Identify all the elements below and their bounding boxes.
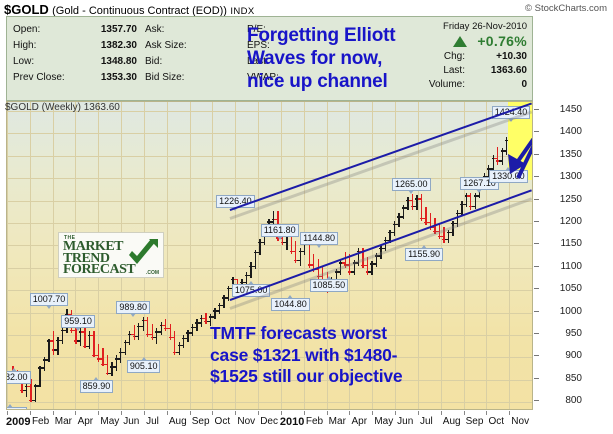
bar-open-tick bbox=[108, 373, 111, 374]
bar-open-tick bbox=[81, 331, 84, 332]
gridline-horizontal bbox=[7, 313, 532, 314]
time-axis-label: Mar bbox=[329, 416, 346, 427]
price-callout-label: 882.00 bbox=[6, 371, 31, 384]
ohlc-bar bbox=[465, 193, 466, 207]
bar-open-tick bbox=[198, 322, 201, 323]
quote-label: Low: bbox=[13, 56, 75, 67]
bar-range bbox=[196, 319, 197, 330]
annotation-line: Forgetting Elliott bbox=[247, 24, 527, 47]
bar-open-tick bbox=[54, 349, 57, 350]
ohlc-bar bbox=[213, 308, 214, 319]
ohlc-bar bbox=[146, 317, 147, 337]
ohlc-bar bbox=[218, 303, 219, 314]
breakout-arrows bbox=[472, 102, 533, 212]
bar-open-tick bbox=[207, 321, 210, 322]
price-axis-tick: 1150 bbox=[534, 238, 613, 250]
bar-range bbox=[93, 331, 94, 357]
bar-open-tick bbox=[382, 248, 385, 249]
bar-open-tick bbox=[144, 320, 147, 321]
bar-open-tick bbox=[180, 345, 183, 346]
time-axis-label: Feb bbox=[32, 416, 49, 427]
axis-tick-mark bbox=[534, 176, 539, 177]
quote-value: 1353.30 bbox=[75, 72, 145, 83]
axis-tick-mark bbox=[534, 378, 539, 379]
bar-open-tick bbox=[368, 271, 371, 272]
annotation-line: $1525 still our objective bbox=[210, 366, 530, 388]
bar-open-tick bbox=[337, 271, 340, 272]
gridline-vertical bbox=[190, 102, 191, 409]
bar-open-tick bbox=[427, 222, 430, 223]
ohlc-bar bbox=[164, 319, 165, 330]
bar-range bbox=[48, 339, 49, 362]
time-axis-label: Apr bbox=[352, 416, 368, 427]
axis-tick-mark bbox=[534, 109, 539, 110]
axis-tick-label: 1300 bbox=[542, 171, 582, 182]
bar-open-tick bbox=[126, 342, 129, 343]
bar-open-tick bbox=[135, 336, 138, 337]
time-axis-label: Feb bbox=[306, 416, 323, 427]
time-axis-tick-mark bbox=[281, 411, 282, 415]
price-axis-tick: 1350 bbox=[534, 149, 613, 161]
bar-range bbox=[192, 324, 193, 336]
bar-open-tick bbox=[310, 264, 313, 265]
bar-open-tick bbox=[95, 355, 98, 356]
bar-open-tick bbox=[395, 224, 398, 225]
axis-tick-label: 950 bbox=[542, 328, 582, 339]
ohlc-bar bbox=[397, 213, 398, 227]
time-axis-label: Jul bbox=[146, 416, 159, 427]
time-axis-label: Aug bbox=[443, 416, 461, 427]
bar-open-tick bbox=[211, 316, 214, 317]
bar-open-tick bbox=[41, 367, 44, 368]
logo-line3: FORECAST bbox=[63, 262, 135, 278]
axis-tick-label: 1450 bbox=[542, 104, 582, 115]
ohlc-bar bbox=[83, 328, 84, 349]
ohlc-bar bbox=[119, 348, 120, 362]
time-axis-tick-mark bbox=[327, 411, 328, 415]
time-axis-label: Jun bbox=[397, 416, 413, 427]
ohlc-bar bbox=[249, 262, 250, 277]
ohlc-bar bbox=[411, 194, 412, 210]
ohlc-bar bbox=[115, 355, 116, 371]
ohlc-bar bbox=[88, 331, 89, 349]
bar-open-tick bbox=[153, 337, 156, 338]
bar-open-tick bbox=[467, 195, 470, 196]
price-axis-tick: 900 bbox=[534, 350, 613, 362]
axis-tick-mark bbox=[534, 266, 539, 267]
axis-tick-mark bbox=[534, 221, 539, 222]
axis-tick-mark bbox=[534, 333, 539, 334]
axis-tick-mark bbox=[534, 131, 539, 132]
ohlc-bar bbox=[128, 331, 129, 345]
symbol-label: $GOLD bbox=[4, 2, 49, 17]
bar-open-tick bbox=[32, 400, 35, 401]
ohlc-bar bbox=[406, 197, 407, 210]
bar-open-tick bbox=[167, 328, 170, 329]
quote-value: 1382.30 bbox=[75, 40, 145, 51]
price-axis-tick: 1450 bbox=[534, 104, 613, 116]
price-axis-tick: 950 bbox=[534, 328, 613, 340]
market-trend-forecast-logo: THE MARKET TREND FORECAST .COM bbox=[58, 232, 164, 278]
time-axis-label: Mar bbox=[55, 416, 72, 427]
bar-open-tick bbox=[225, 297, 228, 298]
time-axis-label: Sep bbox=[466, 416, 484, 427]
bar-open-tick bbox=[449, 232, 452, 233]
bar-open-tick bbox=[463, 204, 466, 205]
quote-value: 1357.70 bbox=[75, 24, 145, 35]
axis-tick-mark bbox=[534, 243, 539, 244]
bar-open-tick bbox=[122, 352, 125, 353]
gridline-vertical bbox=[167, 102, 168, 409]
price-axis-tick: 1200 bbox=[534, 216, 613, 228]
bar-open-tick bbox=[422, 218, 425, 219]
bar-range bbox=[89, 331, 90, 349]
ohlc-bar bbox=[34, 384, 35, 401]
bar-open-tick bbox=[27, 386, 30, 387]
ohlc-bar bbox=[415, 195, 416, 210]
axis-tick-label: 850 bbox=[542, 373, 582, 384]
ohlc-bar bbox=[47, 339, 48, 362]
chart-title: $GOLD (Gold - Continuous Contract (EOD))… bbox=[4, 2, 255, 17]
price-callout-label: 859.90 bbox=[80, 380, 114, 393]
bar-open-tick bbox=[391, 232, 394, 233]
bar-range bbox=[111, 362, 112, 376]
time-axis-tick-mark bbox=[509, 411, 510, 415]
time-axis-tick-mark bbox=[304, 411, 305, 415]
time-axis-tick-mark bbox=[144, 411, 145, 415]
quote-label-2: Ask: bbox=[145, 24, 207, 35]
ohlc-bar bbox=[402, 205, 403, 219]
bar-open-tick bbox=[36, 385, 39, 386]
bar-open-tick bbox=[113, 366, 116, 367]
time-axis-label: 2010 bbox=[280, 416, 304, 428]
axis-tick-label: 900 bbox=[542, 350, 582, 361]
gridline-vertical bbox=[7, 102, 8, 409]
bar-open-tick bbox=[202, 318, 205, 319]
axis-tick-mark bbox=[534, 311, 539, 312]
bar-open-tick bbox=[171, 337, 174, 338]
chart-subtitle: $GOLD (Weekly) 1363.60 bbox=[5, 102, 120, 113]
time-axis-tick-mark bbox=[464, 411, 465, 415]
bar-open-tick bbox=[117, 358, 120, 359]
bar-range bbox=[129, 331, 130, 345]
axis-tick-mark bbox=[534, 154, 539, 155]
time-axis-tick-mark bbox=[98, 411, 99, 415]
bar-range bbox=[26, 382, 27, 397]
time-axis-tick-mark bbox=[235, 411, 236, 415]
channel-lower-shadow bbox=[230, 198, 533, 311]
bar-open-tick bbox=[283, 242, 286, 243]
price-callout-label: 1085.50 bbox=[310, 279, 349, 292]
ohlc-bar bbox=[38, 366, 39, 387]
ohlc-bar bbox=[195, 319, 196, 330]
bar-range bbox=[134, 325, 135, 339]
ohlc-bar bbox=[43, 357, 44, 370]
bar-open-tick bbox=[301, 251, 304, 252]
bar-open-tick bbox=[256, 252, 259, 253]
ohlc-bar bbox=[155, 328, 156, 344]
price-callout-label: 1161.80 bbox=[261, 224, 299, 237]
time-axis-tick-mark bbox=[53, 411, 54, 415]
ohlc-bar bbox=[258, 239, 259, 256]
time-axis: 2009FebMarAprMayJunJulAugSepOctNovDec201… bbox=[0, 411, 613, 434]
bar-open-tick bbox=[247, 275, 250, 276]
annotation-line: nice up channel bbox=[247, 70, 527, 93]
bar-open-tick bbox=[351, 271, 354, 272]
bar-open-tick bbox=[63, 330, 66, 331]
bar-open-tick bbox=[261, 242, 264, 243]
bar-open-tick bbox=[373, 263, 376, 264]
axis-tick-label: 1200 bbox=[542, 216, 582, 227]
quote-label-2: Ask Size: bbox=[145, 40, 207, 51]
ohlc-bar bbox=[393, 221, 394, 236]
bar-open-tick bbox=[162, 325, 165, 326]
price-callout-label: 1265.00 bbox=[392, 178, 431, 191]
quote-label: High: bbox=[13, 40, 75, 51]
price-callout-label: 801.50 bbox=[6, 407, 27, 410]
gridline-vertical bbox=[30, 102, 31, 409]
gridline-horizontal bbox=[7, 133, 532, 134]
price-axis-tick: 1000 bbox=[534, 306, 613, 318]
bar-open-tick bbox=[184, 338, 187, 339]
quote-label: Prev Close: bbox=[13, 72, 75, 83]
bar-open-tick bbox=[274, 219, 277, 220]
gridline-horizontal bbox=[7, 402, 532, 403]
bar-open-tick bbox=[59, 340, 62, 341]
ohlc-bar bbox=[200, 315, 201, 327]
bar-open-tick bbox=[90, 335, 93, 336]
bar-open-tick bbox=[149, 334, 152, 335]
axis-tick-label: 1100 bbox=[542, 261, 582, 272]
ohlc-bar bbox=[92, 331, 93, 357]
time-axis-tick-mark bbox=[7, 411, 8, 415]
bar-range bbox=[201, 315, 202, 327]
bar-open-tick bbox=[409, 200, 412, 201]
time-axis-label: Nov bbox=[237, 416, 255, 427]
bar-open-tick bbox=[50, 340, 53, 341]
annotation-line: case $1321 with $1480- bbox=[210, 345, 530, 367]
bar-range bbox=[179, 342, 180, 355]
quote-value: 1348.80 bbox=[75, 56, 145, 67]
time-axis-label: May bbox=[100, 416, 119, 427]
ohlc-bar bbox=[420, 194, 421, 221]
time-axis-label: Apr bbox=[78, 416, 94, 427]
bar-open-tick bbox=[400, 216, 403, 217]
bar-open-tick bbox=[220, 305, 223, 306]
time-axis-label: Nov bbox=[511, 416, 529, 427]
ohlc-bar bbox=[25, 382, 26, 397]
ohlc-bar bbox=[106, 355, 107, 375]
time-axis-label: May bbox=[374, 416, 393, 427]
price-axis-tick: 1100 bbox=[534, 261, 613, 273]
axis-tick-mark bbox=[534, 199, 539, 200]
ohlc-bar bbox=[182, 335, 183, 348]
ohlc-bar bbox=[204, 313, 205, 324]
axis-tick-mark bbox=[534, 355, 539, 356]
time-axis-tick-mark bbox=[121, 411, 122, 415]
ohlc-bar bbox=[469, 193, 470, 210]
price-axis-tick: 850 bbox=[534, 373, 613, 385]
time-axis-label: 2009 bbox=[6, 416, 30, 428]
bar-open-tick bbox=[270, 221, 273, 222]
checkmark-arrow-icon bbox=[127, 237, 161, 267]
price-callout-label: 959.10 bbox=[61, 315, 95, 328]
time-axis-tick-mark bbox=[190, 411, 191, 415]
axis-tick-mark bbox=[534, 400, 539, 401]
bar-open-tick bbox=[404, 207, 407, 208]
axis-tick-label: 1150 bbox=[542, 238, 582, 249]
axis-tick-mark bbox=[534, 288, 539, 289]
bar-range bbox=[30, 379, 31, 402]
logo-com: .COM bbox=[146, 270, 159, 276]
bar-range bbox=[35, 384, 36, 401]
time-axis-label: Oct bbox=[488, 416, 504, 427]
ohlc-bar bbox=[191, 324, 192, 336]
price-callout-label: 1144.80 bbox=[300, 232, 338, 245]
bar-open-tick bbox=[418, 198, 421, 199]
ohlc-bar bbox=[424, 207, 425, 225]
bar-open-tick bbox=[86, 346, 89, 347]
ohlc-bar bbox=[160, 322, 161, 335]
quote-label-2: Bid: bbox=[145, 56, 207, 67]
bar-open-tick bbox=[99, 358, 102, 359]
bar-range bbox=[53, 331, 54, 356]
quote-label-2: Bid Size: bbox=[145, 72, 207, 83]
time-axis-tick-mark bbox=[167, 411, 168, 415]
bar-open-tick bbox=[189, 332, 192, 333]
time-axis-label: Dec bbox=[260, 416, 278, 427]
price-callout-label: 1044.80 bbox=[271, 298, 310, 311]
time-axis-tick-mark bbox=[75, 411, 76, 415]
bar-open-tick bbox=[193, 327, 196, 328]
gridline-vertical bbox=[53, 102, 54, 409]
bar-range bbox=[205, 313, 206, 324]
time-axis-tick-mark bbox=[441, 411, 442, 415]
annotation-line: TMTF forecasts worst bbox=[210, 323, 530, 345]
axis-tick-label: 1050 bbox=[542, 283, 582, 294]
time-axis-tick-mark bbox=[486, 411, 487, 415]
bar-open-tick bbox=[364, 265, 367, 266]
bar-open-tick bbox=[297, 260, 300, 261]
bar-range bbox=[120, 348, 121, 362]
bar-range bbox=[39, 366, 40, 387]
axis-tick-label: 1000 bbox=[542, 306, 582, 317]
axis-tick-label: 1350 bbox=[542, 149, 582, 160]
price-callout-label: 989.80 bbox=[116, 301, 150, 314]
time-axis-label: Sep bbox=[192, 416, 210, 427]
ohlc-bar bbox=[299, 248, 300, 266]
bar-open-tick bbox=[104, 364, 107, 365]
ohlc-bar bbox=[370, 261, 371, 274]
axis-tick-label: 800 bbox=[542, 395, 582, 406]
ohlc-bar bbox=[227, 286, 228, 302]
bar-open-tick bbox=[23, 390, 26, 391]
price-callout-label: 1155.90 bbox=[405, 248, 443, 261]
time-axis-label: Oct bbox=[215, 416, 231, 427]
ohlc-bar bbox=[110, 362, 111, 376]
bar-range bbox=[161, 322, 162, 335]
price-axis-tick: 1400 bbox=[534, 126, 613, 138]
bar-open-tick bbox=[176, 352, 179, 353]
time-axis-tick-mark bbox=[395, 411, 396, 415]
bar-open-tick bbox=[252, 266, 255, 267]
bar-open-tick bbox=[445, 239, 448, 240]
annotation-top: Forgetting ElliottWaves for now,nice up … bbox=[247, 24, 527, 93]
ohlc-bar bbox=[169, 324, 170, 340]
axis-tick-label: 1250 bbox=[542, 194, 582, 205]
axis-tick-label: 1400 bbox=[542, 126, 582, 137]
bar-open-tick bbox=[234, 279, 237, 280]
time-axis-label: Jul bbox=[420, 416, 433, 427]
bar-open-tick bbox=[140, 326, 143, 327]
bar-open-tick bbox=[292, 251, 295, 252]
ohlc-bar bbox=[124, 340, 125, 356]
ohlc-bar bbox=[137, 323, 138, 340]
ohlc-bar bbox=[178, 342, 179, 355]
time-axis-tick-mark bbox=[349, 411, 350, 415]
bar-open-tick bbox=[158, 331, 161, 332]
gridline-horizontal bbox=[7, 201, 532, 202]
time-axis-tick-mark bbox=[372, 411, 373, 415]
gridline-horizontal bbox=[7, 178, 532, 179]
ohlc-bar bbox=[151, 324, 152, 340]
time-axis-tick-mark bbox=[258, 411, 259, 415]
ohlc-bar bbox=[254, 250, 255, 269]
annotation-bottom: TMTF forecasts worstcase $1321 with $148… bbox=[210, 323, 530, 388]
ohlc-bar bbox=[173, 331, 174, 356]
time-axis-label: Jun bbox=[123, 416, 139, 427]
ohlc-bar bbox=[447, 230, 448, 243]
price-axis-tick: 1300 bbox=[534, 171, 613, 183]
ohlc-bar bbox=[186, 330, 187, 342]
bar-open-tick bbox=[45, 359, 48, 360]
price-axis-tick: 800 bbox=[534, 395, 613, 407]
ohlc-bar bbox=[56, 337, 57, 355]
ohlc-bar bbox=[61, 326, 62, 344]
price-axis: 1450140013501300125012001150110010501000… bbox=[534, 101, 613, 410]
price-axis-tick: 1250 bbox=[534, 194, 613, 206]
quote-label: Open: bbox=[13, 24, 75, 35]
time-axis-tick-mark bbox=[418, 411, 419, 415]
ohlc-bar bbox=[294, 241, 295, 263]
source-attribution: © StockCharts.com bbox=[525, 3, 607, 14]
ohlc-bar bbox=[222, 295, 223, 308]
ohlc-bar bbox=[97, 344, 98, 362]
annotation-line: Waves for now, bbox=[247, 47, 527, 70]
time-axis-tick-mark bbox=[212, 411, 213, 415]
bar-open-tick bbox=[440, 236, 443, 237]
ohlc-bar bbox=[142, 317, 143, 330]
price-callout-label: 1007.70 bbox=[30, 293, 69, 306]
bar-open-tick bbox=[77, 340, 80, 341]
ohlc-bar bbox=[52, 331, 53, 356]
ohlc-bar bbox=[101, 348, 102, 367]
bar-open-tick bbox=[413, 206, 416, 207]
ohlc-bar bbox=[133, 325, 134, 339]
bar-open-tick bbox=[216, 310, 219, 311]
time-axis-label: Aug bbox=[169, 416, 187, 427]
price-axis-tick: 1050 bbox=[534, 283, 613, 295]
gridline-horizontal bbox=[7, 156, 532, 157]
price-callout-label: 905.10 bbox=[127, 360, 161, 373]
time-axis-tick-mark bbox=[30, 411, 31, 415]
